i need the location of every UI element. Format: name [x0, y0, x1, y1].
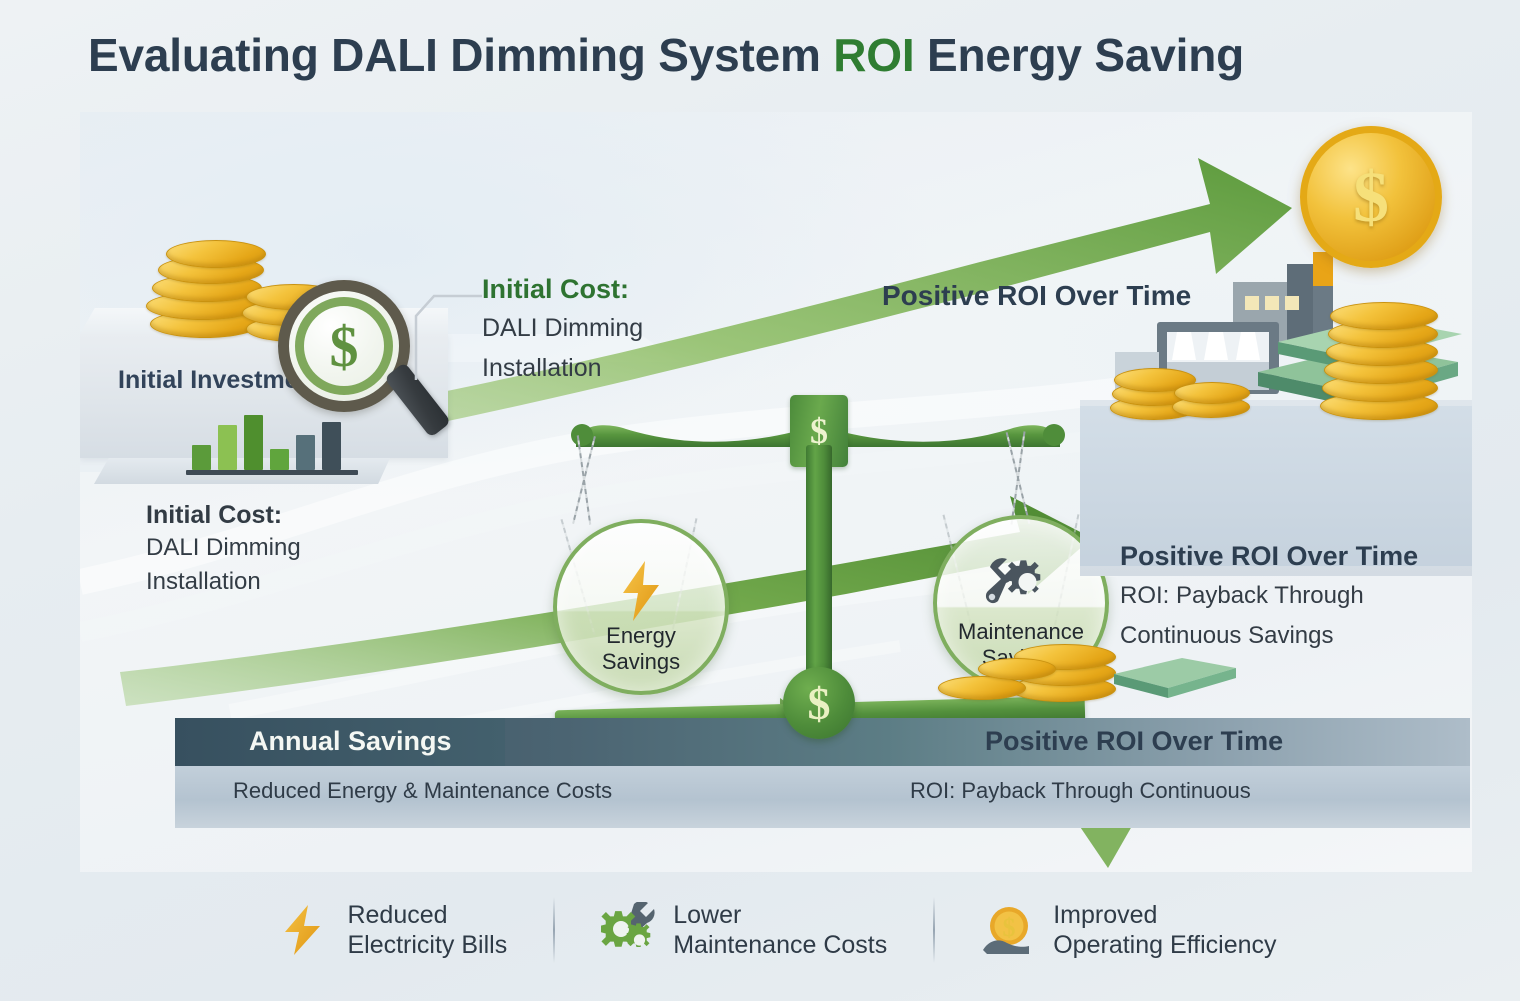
scale-center-dollar: $ — [783, 667, 855, 739]
legend-line1-1: Reduced — [347, 901, 447, 929]
coin-in-hand-icon: $ — [981, 902, 1037, 958]
roi-callout-line1: ROI: Payback Through — [1120, 580, 1472, 611]
legend-item-improved-operating-efficiency: $ Improved Operating Efficiency — [935, 900, 1322, 961]
roi-callout-heading: Positive ROI Over Time — [1120, 540, 1472, 572]
legend-text-3: Improved Operating Efficiency — [1053, 900, 1276, 961]
annual-savings-heading: Annual Savings — [249, 726, 452, 757]
initial-cost-lower-line2: Installation — [146, 567, 446, 598]
bottom-roi-sub: ROI: Payback Through Continuous — [910, 778, 1251, 804]
initial-cost-lower-heading: Initial Cost: — [146, 500, 446, 530]
footer-legend: Reduced Electricity Bills Lower Maintena… — [80, 884, 1472, 976]
title-highlight-roi: ROI — [833, 29, 914, 81]
magnifier-dollar-icon: $ — [278, 280, 410, 412]
legend-line2-1: Electricity Bills — [347, 931, 507, 959]
cash-bundle-icon-bottom — [1110, 640, 1240, 710]
bar-4 — [270, 449, 289, 470]
title-part-1: Evaluating DALI Dimming System — [88, 29, 833, 81]
page-title: Evaluating DALI Dimming System ROI Energ… — [88, 28, 1428, 90]
legend-line2-3: Operating Efficiency — [1053, 931, 1276, 959]
initial-cost-line1: DALI Dimming — [482, 312, 772, 345]
gold-coin-stack-icon-bottom — [938, 624, 1128, 704]
infographic-canvas: Initial Investment Initial Cost: DALI Di… — [80, 112, 1472, 872]
callout-connector-line — [408, 290, 484, 382]
bar-chart-baseline — [186, 470, 358, 475]
bar-1 — [192, 445, 211, 470]
bar-3 — [244, 415, 263, 470]
energy-savings-line2: Savings — [602, 649, 680, 675]
roi-callout: Positive ROI Over Time ROI: Payback Thro… — [1120, 540, 1472, 651]
big-dollar-coin-symbol: $ — [1353, 156, 1389, 239]
initial-investment-bar-chart — [192, 408, 352, 470]
lightning-bolt-icon — [275, 902, 331, 958]
gold-coin-stack-icon-right-small — [1110, 350, 1250, 420]
gold-coin-stack-icon-right-tall — [1320, 268, 1460, 418]
legend-line1-3: Improved — [1053, 901, 1157, 929]
legend-text-1: Reduced Electricity Bills — [347, 900, 507, 961]
bar-6 — [322, 422, 341, 470]
bar-5 — [296, 435, 315, 470]
bar-2 — [218, 425, 237, 470]
scale-pan-energy-savings: Energy Savings — [553, 519, 729, 695]
initial-cost-heading: Initial Cost: — [482, 274, 772, 305]
legend-item-reduced-electricity-bills: Reduced Electricity Bills — [229, 900, 553, 961]
svg-text:$: $ — [1003, 913, 1016, 942]
legend-text-2: Lower Maintenance Costs — [673, 900, 887, 961]
legend-line2-2: Maintenance Costs — [673, 931, 887, 959]
legend-item-lower-maintenance-costs: Lower Maintenance Costs — [555, 900, 933, 961]
gears-wrench-icon — [601, 902, 657, 958]
scale-chain-left-b — [572, 436, 596, 524]
annual-savings-sub: Reduced Energy & Maintenance Costs — [233, 778, 612, 804]
bottom-roi-heading: Positive ROI Over Time — [985, 726, 1283, 757]
infographic-stage: Evaluating DALI Dimming System ROI Energ… — [0, 0, 1520, 1001]
energy-savings-line1: Energy — [606, 623, 676, 649]
big-dollar-coin-icon: $ — [1300, 126, 1442, 268]
initial-cost-lower-callout: Initial Cost: DALI Dimming Installation — [146, 500, 446, 597]
legend-line1-2: Lower — [673, 901, 741, 929]
magnifier-dollar-symbol: $ — [278, 280, 410, 412]
initial-cost-lower-line1: DALI Dimming — [146, 533, 446, 564]
lightning-bolt-icon — [557, 559, 725, 623]
title-part-2: Energy Saving — [914, 29, 1244, 81]
